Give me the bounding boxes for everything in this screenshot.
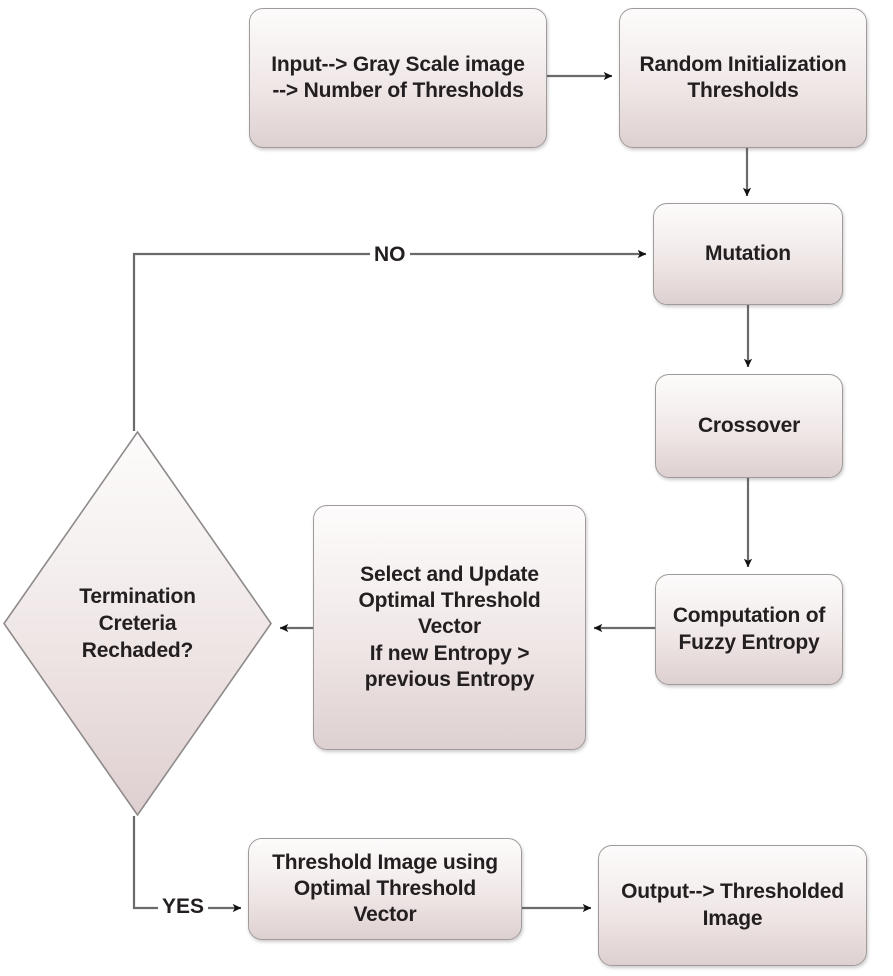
mutation-node[interactable]: Mutation (653, 203, 843, 305)
output-node[interactable]: Output--> Thresholded Image (598, 845, 867, 966)
crossover-node[interactable]: Crossover (655, 374, 843, 478)
crossover-node-label: Crossover (690, 411, 808, 441)
output-node-label: Output--> Thresholded Image (613, 877, 852, 933)
computation-fuzzy-entropy-node-label: Computation of Fuzzy Entropy (665, 601, 833, 657)
select-update-node-label: Select and Update Optimal Threshold Vect… (350, 560, 548, 694)
select-update-node[interactable]: Select and Update Optimal Threshold Vect… (313, 505, 586, 750)
threshold-image-node[interactable]: Threshold Image using Optimal Threshold … (248, 838, 522, 940)
random-initialization-node-label: Random Initialization Thresholds (632, 50, 855, 106)
edge-termination-no-to-mutation-path (134, 254, 646, 431)
input-node-label: Input--> Gray Scale image --> Number of … (263, 50, 533, 106)
edge-label-no: NO (370, 244, 410, 265)
mutation-node-label: Mutation (697, 239, 799, 269)
threshold-image-node-label: Threshold Image using Optimal Threshold … (264, 848, 506, 930)
input-node[interactable]: Input--> Gray Scale image --> Number of … (249, 8, 547, 148)
termination-decision-node[interactable]: Termination Creteria Rechaded? (3, 431, 272, 816)
flowchart-canvas: Input--> Gray Scale image --> Number of … (0, 0, 893, 976)
edge-label-yes: YES (158, 896, 208, 917)
random-initialization-node[interactable]: Random Initialization Thresholds (619, 8, 867, 148)
termination-decision-node-label: Termination Creteria Rechaded? (79, 583, 195, 665)
computation-fuzzy-entropy-node[interactable]: Computation of Fuzzy Entropy (655, 574, 843, 685)
